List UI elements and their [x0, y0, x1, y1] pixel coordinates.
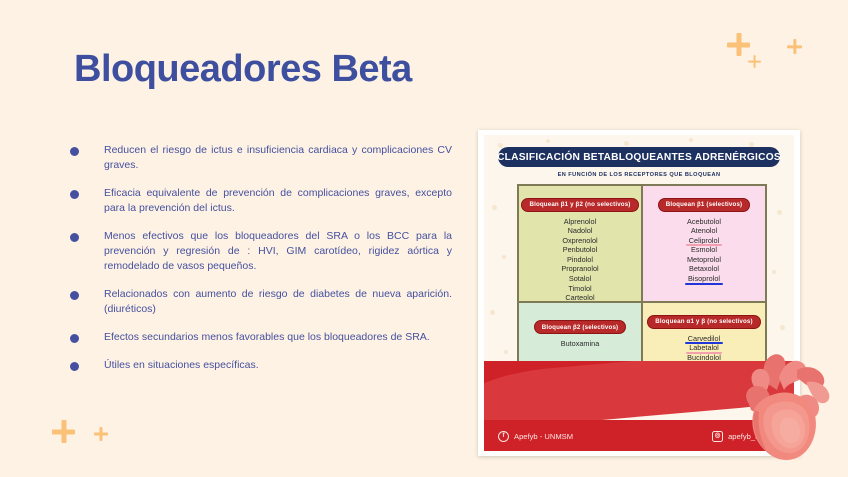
drug-item-highlighted: Celiprolol [643, 236, 765, 246]
confetti-dot [504, 350, 508, 354]
list-item: Reducen el riesgo de ictus e insuficienc… [70, 143, 452, 173]
page-title: Bloqueadores Beta [74, 48, 412, 91]
drug-item: Pindolol [519, 255, 641, 265]
list-item: Relacionados con aumento de riesgo de di… [70, 287, 452, 317]
list-item-text: Relacionados con aumento de riesgo de di… [104, 287, 452, 317]
classification-grid: Bloquean β1 y β2 (no selectivos) Alpreno… [517, 184, 767, 374]
list-item-text: Reducen el riesgo de ictus e insuficienc… [104, 143, 452, 173]
confetti-dot [502, 255, 506, 259]
drug-item: Carteolol [519, 293, 641, 302]
confetti-dot [689, 138, 693, 142]
instagram-label: apefyb_unmsm [728, 432, 780, 441]
instagram-icon: ◎ [712, 431, 723, 442]
confetti-dot [546, 139, 550, 143]
quadrant-label: Bloquean β1 (selectivos) [658, 198, 751, 212]
drug-list: Butoxamina [519, 339, 641, 349]
confetti-dot [490, 310, 495, 315]
drug-item: Esmolol [643, 245, 765, 255]
drug-item: Alprenolol [519, 217, 641, 227]
bullet-dot-icon [70, 233, 79, 242]
confetti-dot [780, 325, 785, 330]
drug-item: Butoxamina [519, 339, 641, 349]
drug-list: Acebutolol Atenolol Celiprolol Esmolol M… [643, 217, 765, 284]
quadrant-label: Bloquean β1 y β2 (no selectivos) [521, 198, 638, 212]
bullet-dot-icon [70, 334, 79, 343]
quadrant-label: Bloquean β2 (selectivos) [534, 320, 627, 334]
plus-sparkle-icon [787, 39, 802, 54]
drug-item: Sotalol [519, 274, 641, 284]
card-title: CLASIFICACIÓN BETABLOQUEANTES ADRENÉRGIC… [498, 147, 780, 167]
list-item-text: Efectos secundarios menos favorables que… [104, 330, 452, 345]
drug-item: Betaxolol [643, 264, 765, 274]
facebook-handle[interactable]: f Apefyb - UNMSM [498, 431, 573, 442]
drug-item-highlighted: Labetalol [643, 343, 765, 353]
confetti-dot [777, 210, 782, 215]
plus-sparkle-icon [748, 55, 761, 68]
list-item-text: Eficacia equivalente de prevención de co… [104, 186, 452, 216]
card-inner: CLASIFICACIÓN BETABLOQUEANTES ADRENÉRGIC… [484, 135, 794, 451]
quadrant-beta1-beta2: Bloquean β1 y β2 (no selectivos) Alpreno… [518, 185, 642, 302]
drug-item: Nadolol [519, 226, 641, 236]
card-subtitle: EN FUNCIÓN DE LOS RECEPTORES QUE BLOQUEA… [484, 172, 794, 178]
list-item: Eficacia equivalente de prevención de co… [70, 186, 452, 216]
footer-decoration: f Apefyb - UNMSM ◎ apefyb_unmsm [484, 361, 794, 451]
confetti-dot [624, 141, 629, 146]
list-item: Menos efectivos que los bloqueadores del… [70, 229, 452, 274]
drug-item-highlighted: Carvedilol [643, 334, 765, 344]
drug-item: Atenolol [643, 226, 765, 236]
drug-item: Acebutolol [643, 217, 765, 227]
instagram-handle[interactable]: ◎ apefyb_unmsm [712, 431, 780, 442]
card-footer-bar: f Apefyb - UNMSM ◎ apefyb_unmsm [484, 420, 794, 451]
list-item: Útiles en situaciones específicas. [70, 358, 452, 373]
facebook-icon: f [498, 431, 509, 442]
classification-card: CLASIFICACIÓN BETABLOQUEANTES ADRENÉRGIC… [478, 130, 800, 456]
drug-item: Propranolol [519, 264, 641, 274]
quadrant-beta1-selective: Bloquean β1 (selectivos) Acebutolol Aten… [642, 185, 766, 302]
plus-sparkle-icon [94, 427, 108, 441]
list-item-text: Menos efectivos que los bloqueadores del… [104, 229, 452, 274]
drug-item: Penbutolol [519, 245, 641, 255]
drug-item: Oxprenolol [519, 236, 641, 246]
bullet-dot-icon [70, 291, 79, 300]
plus-sparkle-icon [52, 420, 75, 443]
list-item: Efectos secundarios menos favorables que… [70, 330, 452, 345]
confetti-dot [772, 270, 776, 274]
drug-item-highlighted: Bisoprolol [643, 274, 765, 284]
bullet-dot-icon [70, 362, 79, 371]
drug-item: Metoprolol [643, 255, 765, 265]
bullet-list: Reducen el riesgo de ictus e insuficienc… [70, 143, 452, 386]
drug-item: Timolol [519, 284, 641, 294]
plus-sparkle-icon [727, 33, 750, 56]
bullet-dot-icon [70, 190, 79, 199]
bullet-dot-icon [70, 147, 79, 156]
facebook-label: Apefyb - UNMSM [514, 432, 573, 441]
quadrant-label: Bloquean α1 y β (no selectivos) [647, 315, 761, 329]
list-item-text: Útiles en situaciones específicas. [104, 358, 452, 373]
confetti-dot [492, 205, 497, 210]
drug-list: Alprenolol Nadolol Oxprenolol Penbutolol… [519, 217, 641, 303]
